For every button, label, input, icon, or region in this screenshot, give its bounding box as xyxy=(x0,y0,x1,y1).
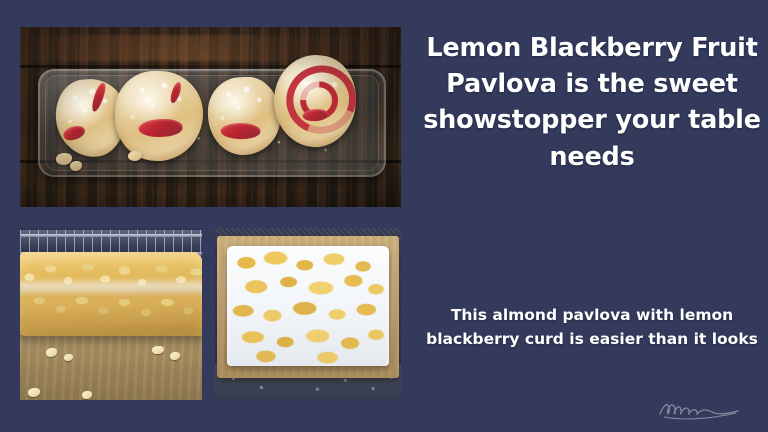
pin-subheadline: This almond pavlova with lemon blackberr… xyxy=(416,303,768,352)
signature-watermark-icon xyxy=(654,394,750,422)
photo-whole-pavlova-roll-with-almonds xyxy=(20,228,202,400)
photo-vignette xyxy=(20,27,401,207)
meringue-sheet-with-cream xyxy=(227,246,389,366)
almond-pavlova-roll xyxy=(20,252,202,336)
photo-sliced-pavlova-roll-on-glass-tray xyxy=(20,27,401,207)
pinterest-recipe-pin: Lemon Blackberry Fruit Pavlova is the sw… xyxy=(0,0,768,432)
cooling-rack-bar xyxy=(20,234,202,237)
photo-meringue-sheet-with-cream-and-curd xyxy=(215,228,401,400)
text-column: Lemon Blackberry Fruit Pavlova is the sw… xyxy=(416,0,768,432)
lemon-curd-dollops xyxy=(227,246,389,366)
pin-headline: Lemon Blackberry Fruit Pavlova is the sw… xyxy=(416,30,768,175)
cream-seam xyxy=(20,278,202,296)
